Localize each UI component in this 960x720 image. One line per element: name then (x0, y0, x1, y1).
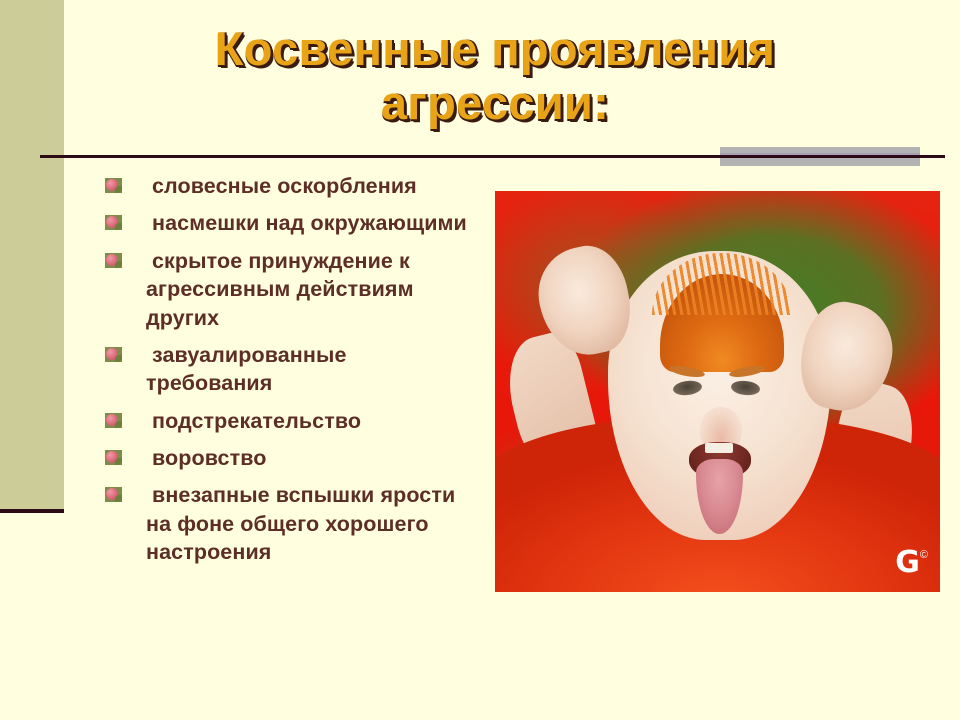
watermark-logo-icon: G (895, 548, 919, 578)
rose-bullet-icon (105, 215, 122, 230)
list-item: подстрекательство (100, 407, 470, 435)
rose-bullet-icon (105, 253, 122, 268)
rose-bullet-icon (105, 487, 122, 502)
rose-bullet-icon (105, 413, 122, 428)
list-item: скрытое принуждение к агрессивным действ… (100, 247, 470, 332)
rose-bullet-icon (105, 178, 122, 193)
photo-hair (660, 274, 785, 372)
copyright-icon: © (920, 550, 928, 561)
photo-head (608, 251, 831, 540)
photo-eye-left (672, 379, 702, 397)
slide-canvas: Косвенные проявления агрессии: словесные… (0, 0, 960, 720)
list-item: воровство (100, 444, 470, 472)
header-divider (40, 155, 945, 158)
list-item-label: завуалированные требования (146, 341, 470, 398)
list-item-label: насмешки над окружающими (146, 209, 470, 237)
left-decorative-band (0, 0, 64, 509)
list-item-label: словесные оскорбления (146, 172, 470, 200)
photo-background: G © (495, 191, 940, 592)
rose-bullet-icon (105, 347, 122, 362)
list-item-label: подстрекательство (146, 407, 470, 435)
list-item-label: скрытое принуждение к агрессивным действ… (146, 247, 470, 332)
title-line-1: Косвенные проявления (90, 22, 900, 76)
photo-angry-boy: G © (495, 191, 940, 592)
rose-bullet-icon (105, 450, 122, 465)
photo-tongue (696, 459, 743, 534)
bullet-list: словесные оскорбления насмешки над окруж… (100, 172, 470, 576)
list-item-label: внезапные вспышки ярости на фоне общего … (146, 481, 470, 566)
photo-watermark: G © (895, 548, 928, 578)
list-item: внезапные вспышки ярости на фоне общего … (100, 481, 470, 566)
list-item-label: воровство (146, 444, 470, 472)
left-band-bottom-rule (0, 509, 64, 513)
photo-eye-right (730, 380, 760, 397)
photo-teeth (705, 443, 734, 453)
title-line-2: агрессии: (90, 76, 900, 130)
list-item: насмешки над окружающими (100, 209, 470, 237)
list-item: завуалированные требования (100, 341, 470, 398)
page-title: Косвенные проявления агрессии: (90, 22, 900, 129)
list-item: словесные оскорбления (100, 172, 470, 200)
